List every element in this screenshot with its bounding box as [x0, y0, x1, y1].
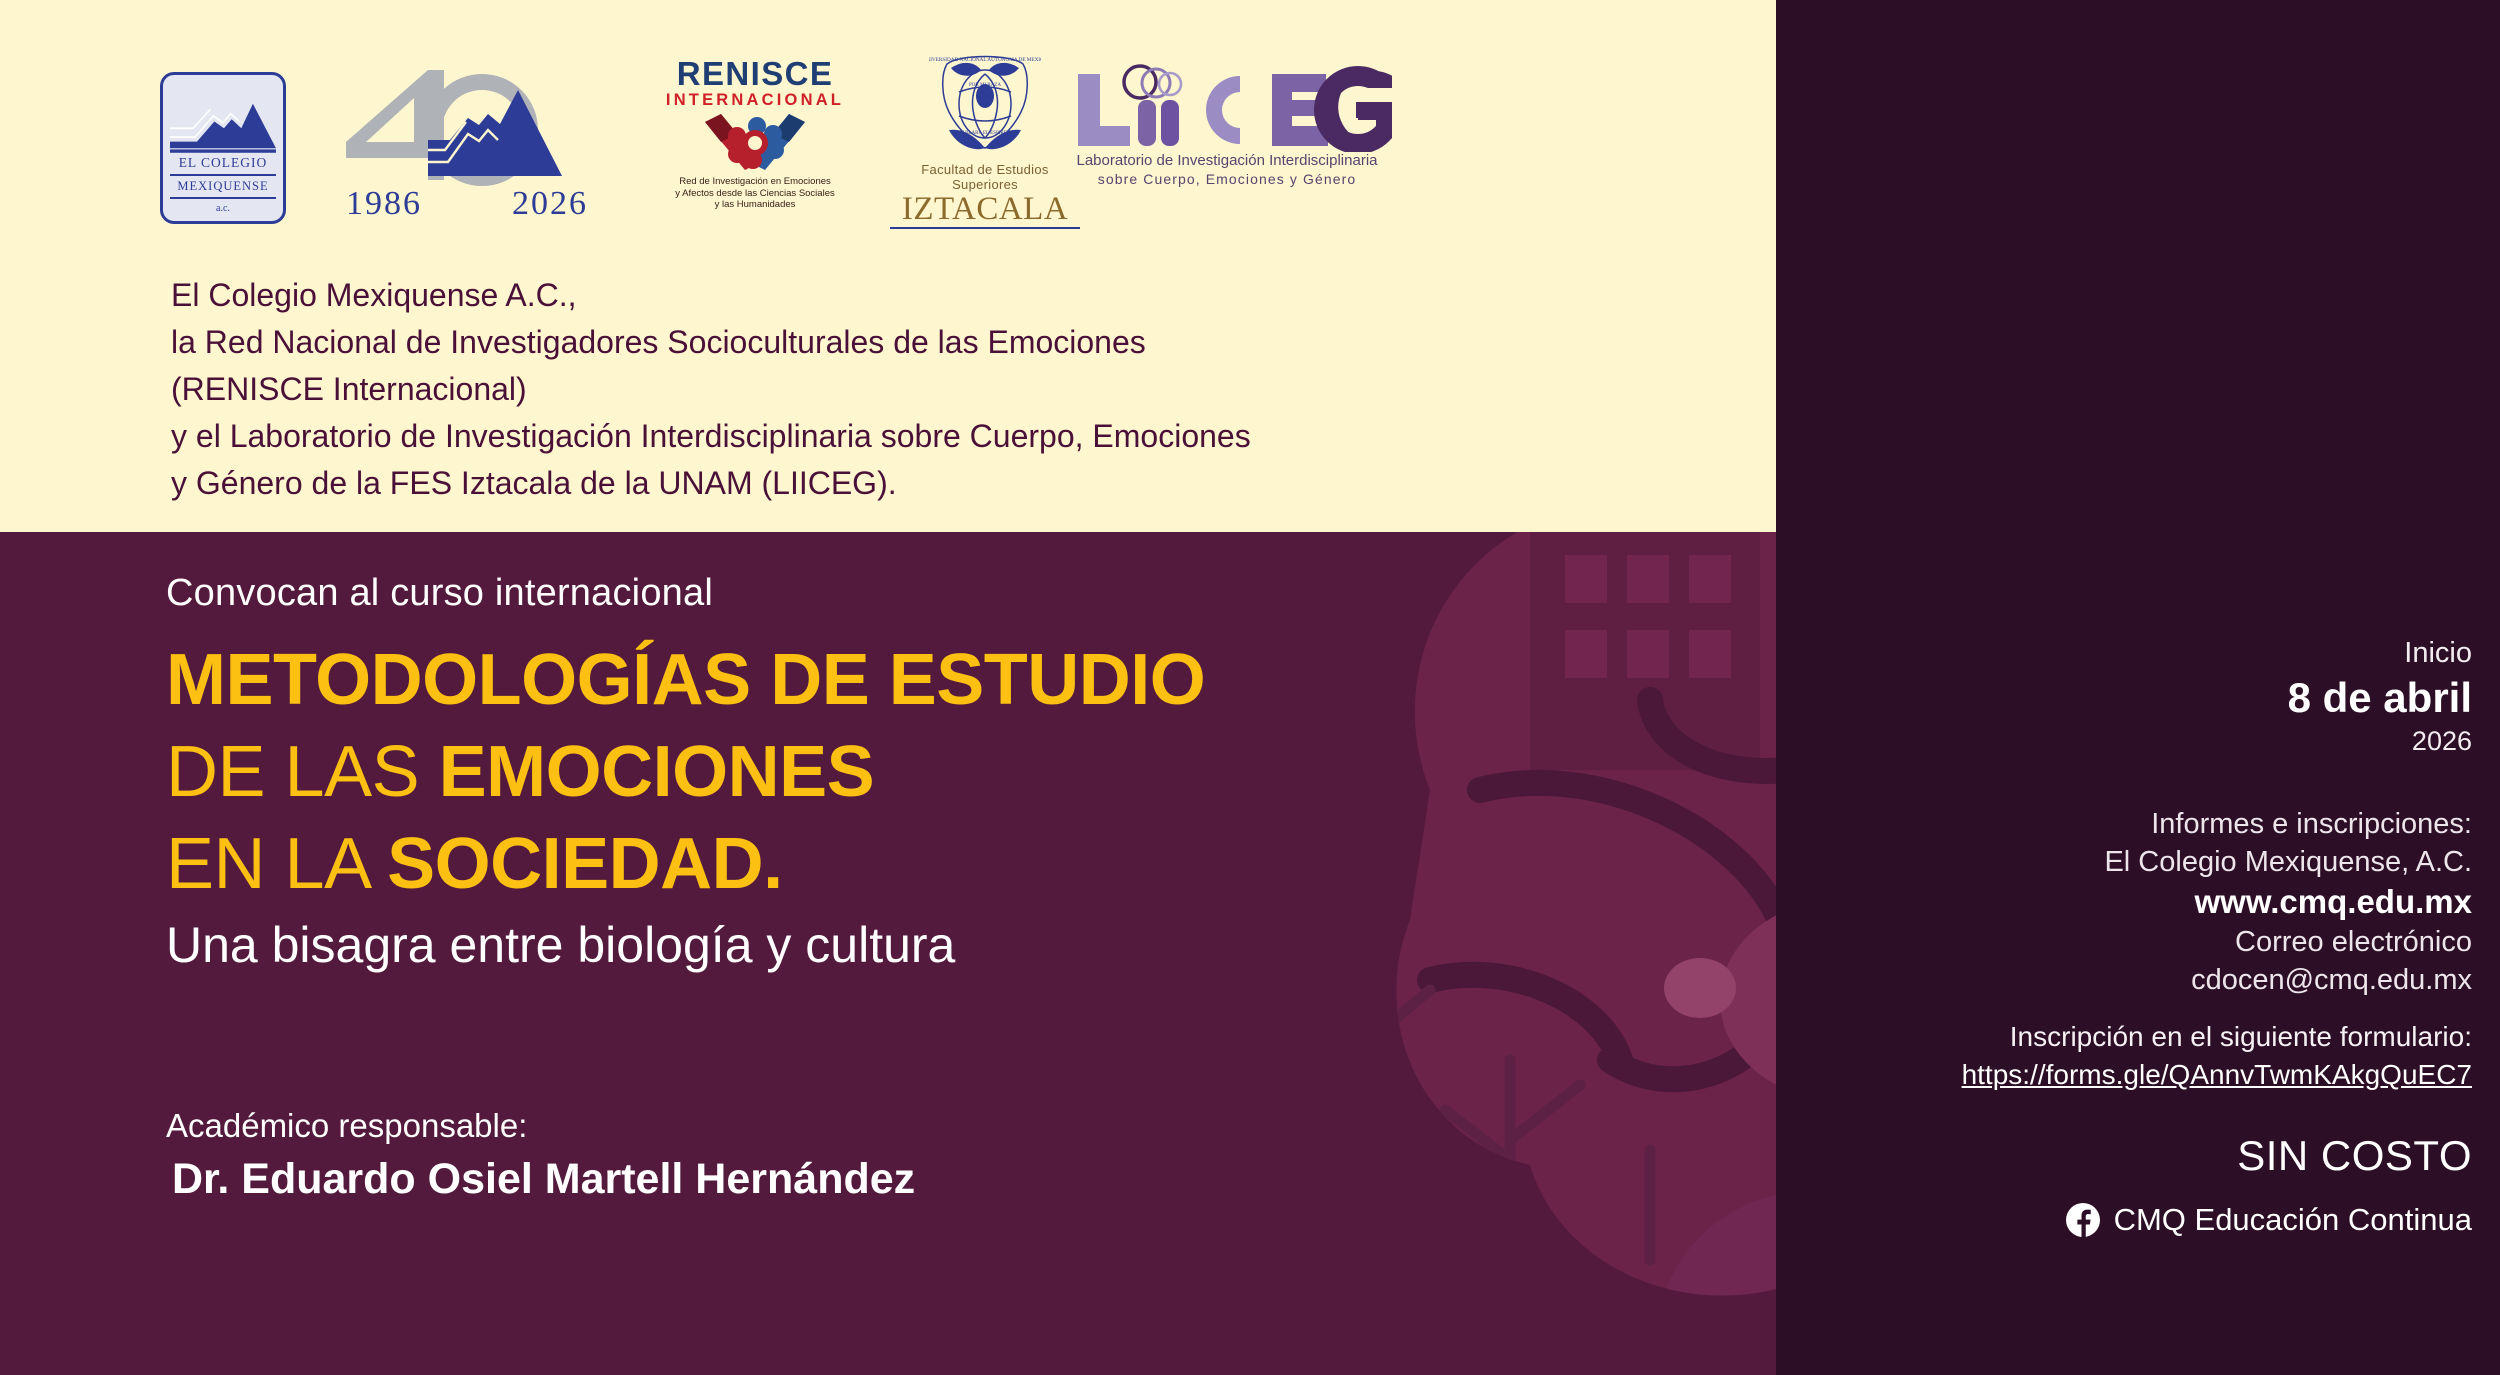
cmq-line2: MEXIQUENSE [170, 178, 276, 194]
anniversary-graphic: 1986 2026 [332, 62, 604, 220]
intro-line-2: la Red Nacional de Investigadores Socioc… [171, 319, 1731, 366]
intro-line-3: (RENISCE Internacional) [171, 366, 1731, 413]
svg-text:POR MI RAZA: POR MI RAZA [969, 83, 1001, 88]
start-date: 8 de abril [2288, 672, 2472, 724]
sidebar-content: Inicio 8 de abril 2026 Informes e inscri… [1832, 0, 2472, 1375]
title-line-3-light: EN LA [166, 824, 387, 904]
liiceg-logo: Laboratorio de Investigación Interdiscip… [1062, 60, 1392, 222]
renisce-subtitle: INTERNACIONAL [640, 91, 870, 109]
title-line-2: DE LAS EMOCIONES [166, 726, 1666, 818]
40-aniversario-logo: 1986 2026 [332, 62, 604, 220]
course-subtitle: Una bisagra entre biología y cultura [166, 914, 1666, 976]
course-title: METODOLOGÍAS DE ESTUDIO DE LAS EMOCIONES… [166, 634, 1666, 910]
title-line-2-bold: EMOCIONES [439, 732, 875, 812]
title-line-2-light: DE LAS [166, 732, 439, 812]
renisce-x-mark-icon [701, 112, 809, 174]
mountain-icon [170, 97, 276, 155]
intro-line-4: y el Laboratorio de Investigación Interd… [171, 413, 1731, 460]
course-headline-block: Convocan al curso internacional METODOLO… [166, 570, 1666, 976]
cost-badge: SIN COSTO [2237, 1131, 2472, 1181]
logo-row: EL COLEGIO MEXIQUENSE a.c. 1986 2026 [0, 0, 1776, 260]
cmq-divider-2 [170, 197, 276, 199]
unam-divider [890, 227, 1080, 229]
renisce-footer-line2: y Afectos desde las Ciencias Sociales [640, 188, 870, 200]
info-line-2: El Colegio Mexiquense, A.C. [2104, 843, 2472, 881]
title-line-3-bold: SOCIEDAD. [387, 824, 783, 904]
email-address[interactable]: cdocen@cmq.edu.mx [2191, 961, 2472, 999]
liiceg-subtitle-line1: Laboratorio de Investigación Interdiscip… [1062, 152, 1392, 170]
kicker-text: Convocan al curso internacional [166, 570, 1666, 616]
renisce-footer-line1: Red de Investigación en Emociones [640, 176, 870, 188]
liiceg-subtitle-line2: sobre Cuerpo, Emociones y Género [1062, 170, 1392, 188]
title-line-3: EN LA SOCIEDAD. [166, 818, 1666, 910]
start-year: 2026 [2412, 724, 2472, 758]
unam-faculty-label: Facultad de Estudios Superiores [890, 162, 1080, 192]
cmq-divider [170, 174, 276, 176]
el-colegio-mexiquense-logo: EL COLEGIO MEXIQUENSE a.c. [160, 72, 286, 224]
email-block: Correo electrónico cdocen@cmq.edu.mx [2191, 923, 2472, 999]
info-block: Informes e inscripciones: El Colegio Mex… [2104, 805, 2472, 881]
liiceg-wordmark-icon [1062, 60, 1392, 152]
facebook-page-name[interactable]: CMQ Educación Continua [2114, 1200, 2472, 1240]
cmq-line3: a.c. [170, 202, 276, 215]
unam-campus-label: IZTACALA [890, 192, 1080, 226]
form-url-link[interactable]: https://forms.gle/QAnnvTwmKAkgQuEC7 [1962, 1056, 2472, 1094]
facebook-block[interactable]: CMQ Educación Continua [2066, 1200, 2472, 1240]
form-label: Inscripción en el siguiente formulario: [1962, 1018, 2472, 1056]
svg-text:HABLARA EL ESPIRITU: HABLARA EL ESPIRITU [958, 131, 1013, 136]
start-label: Inicio [2404, 635, 2472, 671]
academic-responsible-label: Académico responsable: [166, 1105, 915, 1147]
info-line-1: Informes e inscripciones: [2104, 805, 2472, 843]
title-line-1: METODOLOGÍAS DE ESTUDIO [166, 634, 1666, 726]
intro-line-1: El Colegio Mexiquense A.C., [171, 272, 1731, 319]
renisce-internacional-logo: RENISCE INTERNACIONAL [640, 58, 870, 223]
unam-seal-icon: UNIVERSIDAD NACIONAL AUTONOMA DE MEXICO … [929, 52, 1041, 160]
anniversary-year-end: 2026 [512, 185, 588, 220]
fes-iztacala-unam-logo: UNIVERSIDAD NACIONAL AUTONOMA DE MEXICO … [890, 52, 1080, 224]
cmq-line1: EL COLEGIO [170, 155, 276, 171]
form-block: Inscripción en el siguiente formulario: … [1962, 1018, 2472, 1094]
renisce-footer-line3: y las Humanidades [640, 199, 870, 211]
facebook-icon[interactable] [2066, 1203, 2100, 1237]
email-label: Correo electrónico [2191, 923, 2472, 961]
poster-root: EL COLEGIO MEXIQUENSE a.c. 1986 2026 [0, 0, 2500, 1375]
intro-line-5: y Género de la FES Iztacala de la UNAM (… [171, 460, 1731, 507]
website-link[interactable]: www.cmq.edu.mx [2194, 881, 2472, 923]
anniversary-year-start: 1986 [346, 185, 422, 220]
renisce-title: RENISCE [640, 58, 870, 90]
intro-paragraph: El Colegio Mexiquense A.C., la Red Nacio… [171, 272, 1731, 507]
academic-responsible-block: Académico responsable: Dr. Eduardo Osiel… [166, 1105, 915, 1207]
academic-responsible-name: Dr. Eduardo Osiel Martell Hernández [172, 1151, 915, 1207]
svg-text:UNIVERSIDAD NACIONAL AUTONOMA: UNIVERSIDAD NACIONAL AUTONOMA DE MEXICO [929, 57, 1041, 63]
